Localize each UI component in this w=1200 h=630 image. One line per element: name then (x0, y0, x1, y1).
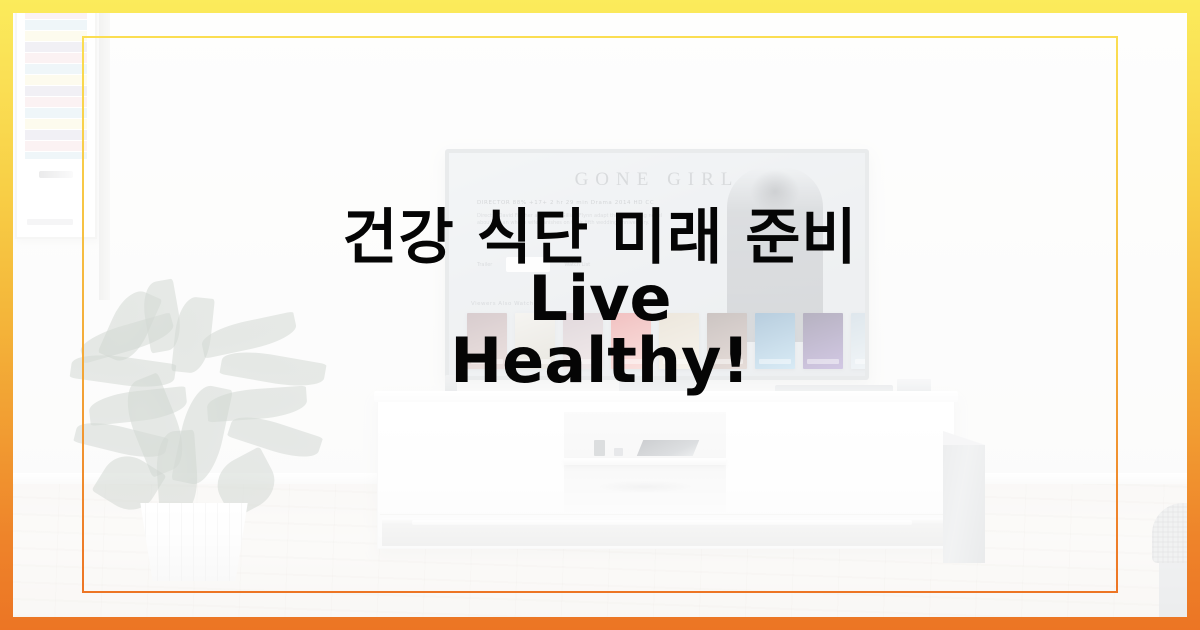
headline-line-korean: 건강 식단 미래 준비 (13, 209, 1187, 268)
headline-block: 건강 식단 미래 준비 Live Healthy! (13, 209, 1187, 391)
banner-stage: GONE GIRL DIRECTOR 88% +17+ 2 hr 29 min … (13, 13, 1187, 617)
headline-line-live: Live (13, 268, 1187, 329)
banner-canvas: GONE GIRL DIRECTOR 88% +17+ 2 hr 29 min … (0, 0, 1200, 630)
headline-line-healthy: Healthy! (13, 330, 1187, 391)
